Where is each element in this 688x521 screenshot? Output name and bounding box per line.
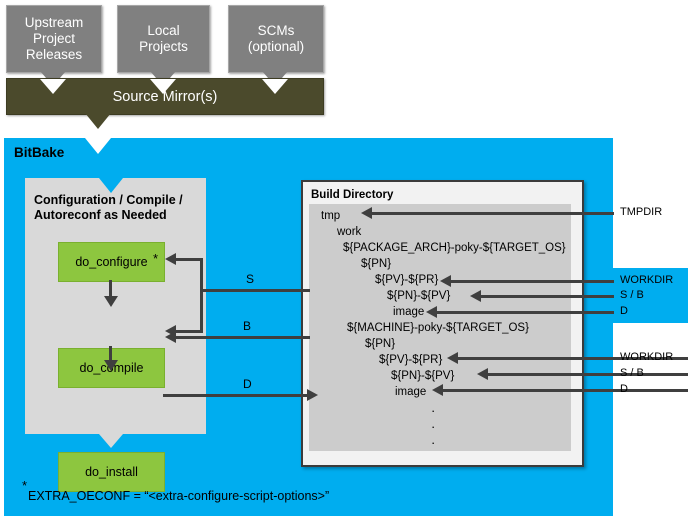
mirror-socket-3-icon: [262, 79, 288, 94]
flow-arrow-compile-install-head-icon: [104, 360, 118, 371]
source-box-scms-optional: SCMs (optional): [228, 5, 324, 73]
tree-row: ${PV}-${PR}: [309, 352, 571, 368]
mirror-pointer-icon: [85, 113, 111, 129]
task-do-install[interactable]: do_install: [58, 452, 165, 492]
stream-label-d: D: [243, 377, 252, 391]
source-box-line: Local: [139, 23, 188, 39]
flow-arrow-configure-compile-head-icon: [104, 296, 118, 307]
right-label-d-2: D: [620, 383, 628, 395]
arrow-b-head-icon: [165, 331, 176, 343]
source-box-line: Projects: [139, 39, 188, 55]
arrow-s-line: [200, 289, 310, 292]
config-panel-pointer-icon: [99, 434, 123, 448]
config-panel-title: Configuration / Compile / Autoreconf as …: [34, 193, 183, 223]
task-label: do_install: [85, 465, 138, 479]
source-box-line: Upstream: [25, 15, 84, 31]
tree-ellipsis: ·: [309, 416, 571, 432]
right-label-workdir-2: WORKDIR: [620, 351, 673, 363]
stream-label-b: B: [243, 319, 251, 333]
tree-row: ${PN}: [309, 336, 571, 352]
right-label-d-1: D: [620, 305, 628, 317]
arrow-tmpdir-line: [372, 212, 614, 215]
flow-arrow-compile-install-line: [109, 346, 112, 361]
task-footnote-marker: *: [153, 254, 158, 264]
right-label-sb-2: S / B: [620, 367, 644, 379]
arrow-workdir-1-head-icon: [440, 275, 451, 287]
arrow-d-line: [163, 394, 308, 397]
arrow-sb-2-head-icon: [477, 368, 488, 380]
stream-label-s: S: [246, 272, 254, 286]
source-box-line: SCMs: [248, 23, 304, 39]
bitbake-title: BitBake: [14, 145, 64, 160]
arrow-sb-1-line: [481, 295, 614, 298]
source-box-line: Project: [25, 31, 84, 47]
arrow-workdir-2-head-icon: [447, 352, 458, 364]
build-directory-tree-rows: tmp work ${PACKAGE_ARCH}-poky-${TARGET_O…: [309, 208, 571, 448]
footnote-star: *: [22, 478, 27, 493]
flow-arrow-configure-compile-line: [109, 280, 112, 297]
arrow-s-branch-vertical: [200, 258, 203, 333]
tree-row: work: [309, 224, 571, 240]
tree-row: ${MACHINE}-poky-${TARGET_OS}: [309, 320, 571, 336]
right-label-tmpdir: TMPDIR: [620, 206, 662, 218]
build-directory-title: Build Directory: [311, 189, 393, 201]
right-label-sb-1: S / B: [620, 289, 644, 301]
right-label-workdir-1: WORKDIR: [620, 274, 673, 286]
footnote-text: EXTRA_OECONF = “<extra-configure-script-…: [28, 489, 329, 503]
arrow-s-branch-bottom: [176, 330, 203, 333]
arrow-b-line: [176, 336, 310, 339]
mirror-socket-2-icon: [150, 79, 176, 94]
arrow-tmpdir-head-icon: [361, 207, 372, 219]
arrow-d-2-head-icon: [432, 384, 443, 396]
arrow-d-1-line: [437, 311, 614, 314]
config-panel-title-line1: Configuration / Compile /: [34, 193, 183, 208]
tree-ellipsis: ·: [309, 432, 571, 448]
arrow-sb-2-line: [488, 373, 688, 376]
task-do-configure[interactable]: do_configure *: [58, 242, 165, 282]
arrow-s-head-configure-icon: [165, 253, 176, 265]
source-box-upstream-project-releases: Upstream Project Releases: [6, 5, 102, 73]
arrow-sb-1-head-icon: [470, 290, 481, 302]
source-box-line: (optional): [248, 39, 304, 55]
tree-ellipsis: ·: [309, 400, 571, 416]
mirror-socket-1-icon: [40, 79, 66, 94]
arrow-d-1-head-icon: [426, 306, 437, 318]
arrow-d-2-line: [443, 389, 688, 392]
tree-row: ${PN}: [309, 256, 571, 272]
config-panel-socket-icon: [99, 178, 123, 193]
config-panel-title-line2: Autoreconf as Needed: [34, 208, 183, 223]
tree-row: tmp: [309, 208, 571, 224]
arrow-d-head-icon: [307, 389, 318, 401]
arrow-workdir-1-line: [451, 280, 614, 283]
source-box-line: Releases: [25, 47, 84, 63]
bitbake-socket-icon: [85, 138, 111, 154]
tree-row: ${PN}-${PV}: [309, 368, 571, 384]
tree-row: ${PACKAGE_ARCH}-poky-${TARGET_OS}: [309, 240, 571, 256]
source-box-local-projects: Local Projects: [117, 5, 210, 73]
arrow-s-branch-top: [176, 258, 203, 261]
task-label: do_configure: [75, 255, 147, 269]
